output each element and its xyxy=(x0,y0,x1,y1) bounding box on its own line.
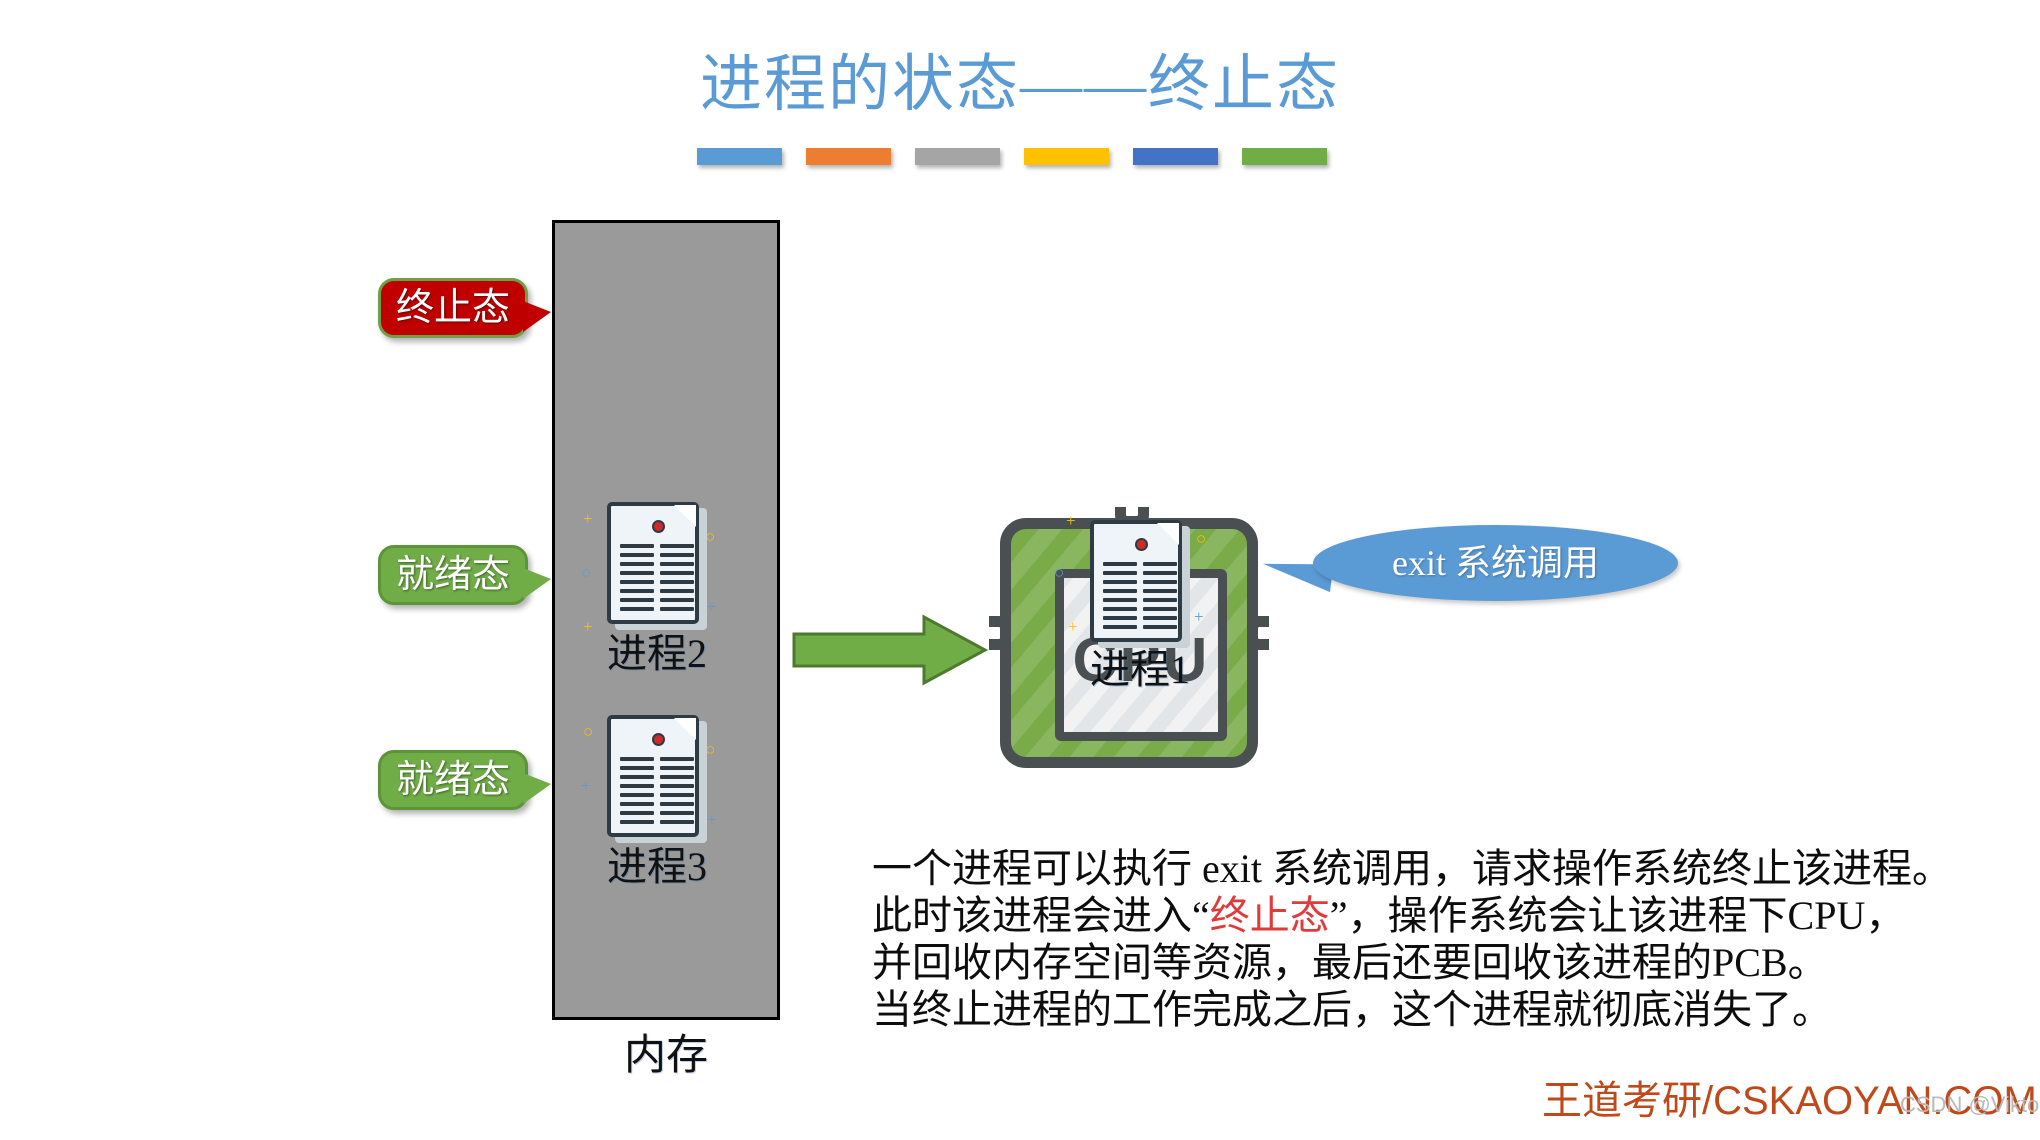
sparkle-icon: ○ xyxy=(581,564,591,581)
sparkle-icon: + xyxy=(1068,618,1078,635)
csdn-watermark: CSDN @Viktoriae xyxy=(1900,1092,2040,1118)
document-page xyxy=(607,715,699,837)
callout-pointer-icon xyxy=(523,301,551,332)
accent-bar-gray xyxy=(915,148,1000,165)
document-text-lines xyxy=(1103,562,1177,634)
process3-label: 进程3 xyxy=(583,843,731,891)
sparkle-icon: + xyxy=(581,777,591,794)
document-line-column xyxy=(620,544,654,616)
document-line-column xyxy=(660,757,694,829)
sparkle-icon: ○ xyxy=(1196,530,1206,547)
process1-label: 进程1 xyxy=(1066,646,1214,694)
callout-pointer-icon xyxy=(523,773,551,804)
document-line-column xyxy=(1143,562,1177,634)
process2-icon-group: + ○ + ○ + xyxy=(607,502,707,630)
callout-terminated-label: 终止态 xyxy=(396,289,510,327)
accent-bar-strip xyxy=(697,148,1327,165)
body-line-2: 此时该进程会进入“终止态”，操作系统会让该进程下CPU， xyxy=(872,892,1992,939)
page-fold-icon xyxy=(674,505,696,527)
callout-terminated: 终止态 xyxy=(378,278,528,338)
sparkle-icon: + xyxy=(1066,512,1076,529)
document-page xyxy=(1090,520,1182,642)
document-icon xyxy=(607,715,707,843)
cpu-notch-right-icon xyxy=(1247,616,1269,650)
accent-bar-orange xyxy=(806,148,891,165)
sparkle-icon: + xyxy=(583,510,593,527)
sparkle-icon: ○ xyxy=(583,723,593,740)
sparkle-icon: + xyxy=(707,811,717,828)
document-red-dot-icon xyxy=(652,733,665,746)
document-page xyxy=(607,502,699,624)
callout-ready-process2: 就绪态 xyxy=(378,545,528,605)
document-icon xyxy=(1090,520,1190,648)
process1-icon-group: + ○ + ○ + xyxy=(1090,520,1190,648)
document-text-lines xyxy=(620,757,694,829)
body-line-2-prefix: 此时该进程会进入“ xyxy=(872,893,1210,938)
page-fold-icon xyxy=(1157,523,1179,545)
document-text-lines xyxy=(620,544,694,616)
accent-bar-yellow xyxy=(1024,148,1109,165)
sparkle-icon: ○ xyxy=(1054,564,1064,581)
process2-label: 进程2 xyxy=(583,630,731,678)
body-paragraph: 一个进程可以执行 exit 系统调用，请求操作系统终止该进程。 此时该进程会进入… xyxy=(872,845,1992,1033)
accent-bar-blue xyxy=(697,148,782,165)
document-line-column xyxy=(660,544,694,616)
document-line-column xyxy=(1103,562,1137,634)
document-line-column xyxy=(620,757,654,829)
page-fold-icon xyxy=(674,718,696,740)
document-icon xyxy=(607,502,707,630)
callout-ready-1-label: 就绪态 xyxy=(396,556,510,594)
speech-bubble-exit-syscall: exit 系统调用 xyxy=(1313,525,1678,601)
body-line-1: 一个进程可以执行 exit 系统调用，请求操作系统终止该进程。 xyxy=(872,845,1992,892)
body-line-3: 并回收内存空间等资源，最后还要回收该进程的PCB。 xyxy=(872,939,1992,986)
accent-bar-green xyxy=(1242,148,1327,165)
slide-canvas: 进程的状态——终止态 内存 终止态 就绪态 就绪态 + ○ + ○ + xyxy=(0,0,2040,1140)
arrow-shape xyxy=(794,617,985,683)
callout-ready-2-label: 就绪态 xyxy=(396,761,510,799)
document-red-dot-icon xyxy=(1135,538,1148,551)
body-line-4: 当终止进程的工作完成之后，这个进程就彻底消失了。 xyxy=(872,986,1992,1033)
memory-label: 内存 xyxy=(552,1030,780,1082)
accent-bar-darkblue xyxy=(1133,148,1218,165)
sparkle-icon: + xyxy=(1194,608,1204,625)
page-title: 进程的状态——终止态 xyxy=(0,48,2040,122)
green-right-arrow-icon xyxy=(792,614,988,686)
cpu-notch-left-icon xyxy=(989,616,1011,650)
speech-bubble-label: exit 系统调用 xyxy=(1392,545,1599,581)
callout-ready-process3: 就绪态 xyxy=(378,750,528,810)
sparkle-icon: + xyxy=(707,598,717,615)
callout-pointer-icon xyxy=(523,568,551,599)
document-red-dot-icon xyxy=(652,520,665,533)
body-line-2-suffix: ”，操作系统会让该进程下CPU， xyxy=(1330,893,1906,938)
body-line-2-highlight: 终止态 xyxy=(1210,893,1330,938)
process3-icon-group: ○ + ○ + xyxy=(607,715,707,843)
